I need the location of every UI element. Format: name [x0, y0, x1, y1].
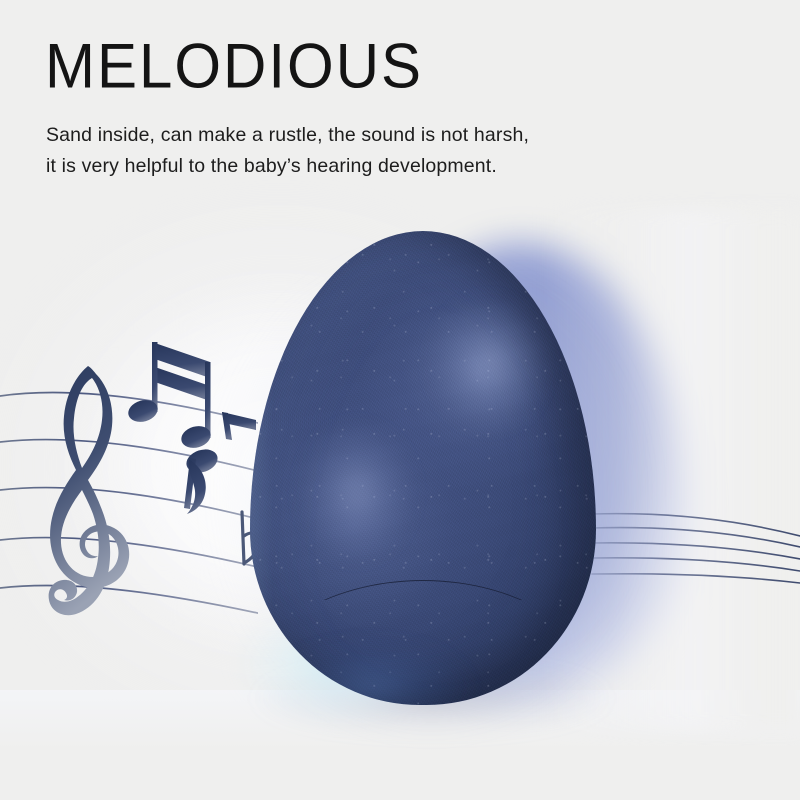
description-line-1: Sand inside, can make a rustle, the soun… — [46, 120, 529, 151]
page-title: MELODIOUS — [45, 33, 423, 100]
product-description: Sand inside, can make a rustle, the soun… — [46, 120, 529, 182]
egg-edge-light-left — [250, 231, 298, 705]
description-line-2: it is very helpful to the baby’s hearing… — [46, 151, 529, 182]
product-marketing-image: MELODIOUS Sand inside, can make a rustle… — [0, 0, 800, 800]
egg-molding-seam — [250, 570, 596, 600]
egg-shaker-product — [250, 231, 596, 705]
egg-highlight-left — [298, 421, 416, 563]
egg-highlight-right — [430, 297, 548, 430]
